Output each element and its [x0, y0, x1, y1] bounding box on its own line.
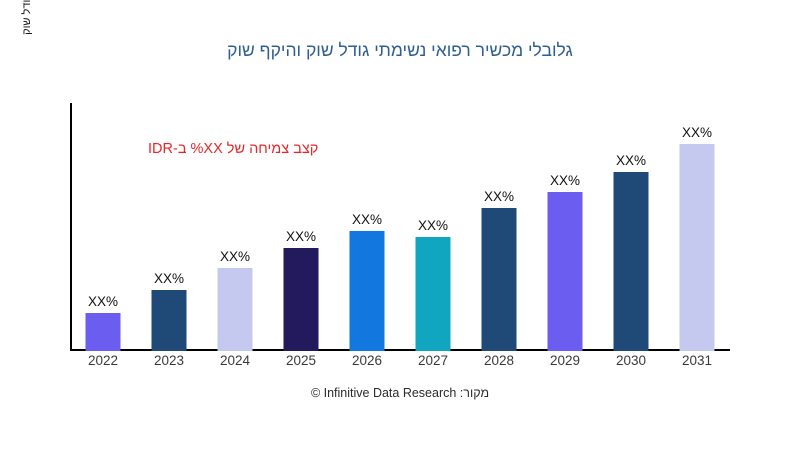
x-axis-tick-labels: 2022202320242025202620272028202920302031: [70, 353, 800, 377]
bar[interactable]: [284, 248, 319, 351]
bar[interactable]: [218, 268, 253, 351]
y-axis-title: גודל שוק: [18, 0, 36, 115]
chart-title: גלובלי מכשיר רפואי נשימתי גודל שוק והיקף…: [0, 40, 800, 61]
source-note: מקור: Infinitive Data Research ©: [0, 386, 800, 400]
bar-value-label: XX%: [682, 125, 712, 140]
bars-container: XX%XX%XX%XX%XX%XX%XX%XX%XX%XX%: [70, 90, 800, 351]
x-tick-label: 2026: [337, 353, 397, 368]
bar-group: XX%: [667, 90, 727, 351]
x-tick-label: 2024: [205, 353, 265, 368]
x-tick-label: 2028: [469, 353, 529, 368]
bar[interactable]: [548, 192, 583, 351]
bar-group: XX%: [469, 90, 529, 351]
bar-group: XX%: [601, 90, 661, 351]
x-tick-label: 2029: [535, 353, 595, 368]
bar-value-label: XX%: [418, 218, 448, 233]
bar[interactable]: [350, 231, 385, 351]
x-tick-label: 2031: [667, 353, 727, 368]
bar-group: XX%: [403, 90, 463, 351]
bar[interactable]: [152, 290, 187, 351]
x-tick-label: 2025: [271, 353, 331, 368]
bar-value-label: XX%: [616, 153, 646, 168]
bar[interactable]: [416, 237, 451, 351]
bar-group: XX%: [73, 90, 133, 351]
bar[interactable]: [680, 144, 715, 351]
bar-value-label: XX%: [286, 229, 316, 244]
bar-value-label: XX%: [352, 212, 382, 227]
bar-value-label: XX%: [88, 294, 118, 309]
x-tick-label: 2023: [139, 353, 199, 368]
bar-chart: גלובלי מכשיר רפואי נשימתי גודל שוק והיקף…: [0, 0, 800, 450]
bar-group: XX%: [535, 90, 595, 351]
bar[interactable]: [614, 172, 649, 351]
bar-group: XX%: [139, 90, 199, 351]
bar[interactable]: [482, 208, 517, 351]
bar[interactable]: [86, 313, 121, 351]
x-tick-label: 2022: [73, 353, 133, 368]
x-tick-label: 2030: [601, 353, 661, 368]
bar-value-label: XX%: [154, 271, 184, 286]
bar-group: XX%: [337, 90, 397, 351]
bar-value-label: XX%: [550, 173, 580, 188]
x-tick-label: 2027: [403, 353, 463, 368]
bar-value-label: XX%: [220, 249, 250, 264]
bar-group: XX%: [205, 90, 265, 351]
bar-group: XX%: [271, 90, 331, 351]
bar-value-label: XX%: [484, 189, 514, 204]
